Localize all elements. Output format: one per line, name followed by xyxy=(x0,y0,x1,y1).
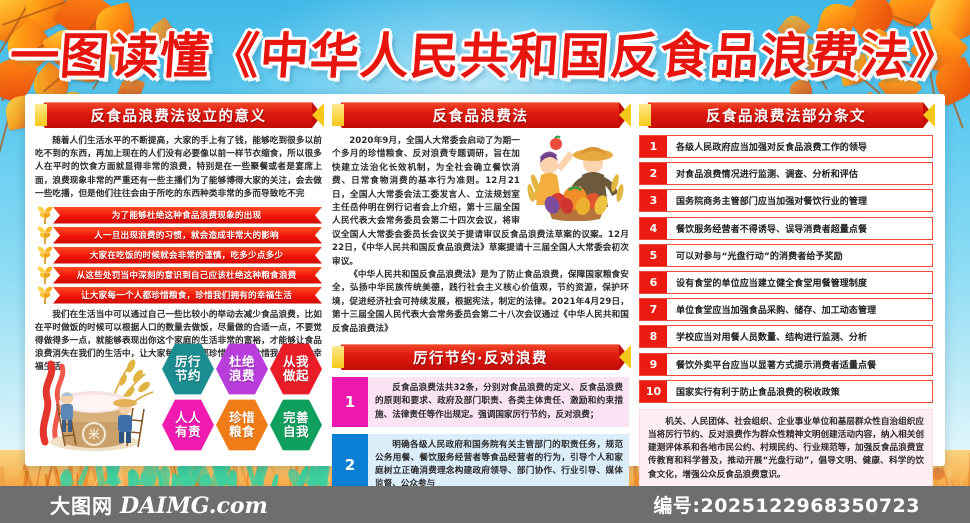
palm-blade xyxy=(172,473,177,486)
provision-text: 单位食堂应当加强食品采购、储存、加工动态管理 xyxy=(667,299,932,320)
mid-section-header: 反食品浪费法 xyxy=(332,102,629,128)
wheat-straw xyxy=(0,467,4,486)
right-section-header: 反食品浪费法部分条文 xyxy=(639,102,933,128)
provision-index: 5 xyxy=(640,245,667,266)
palm-blade xyxy=(212,470,224,486)
footer-code: 编号:2025122968350723 xyxy=(653,491,920,518)
left-bullet-text: 大家在吃饭的时候就会非常的谨慎，吃多少点多少 xyxy=(35,249,322,261)
left-section-header: 反食品浪费法设立的意义 xyxy=(35,102,322,128)
wheat-ear-icon xyxy=(35,226,55,245)
mid-item-number: 1 xyxy=(332,377,368,427)
column-left: 反食品浪费法设立的意义 随着人们生活水平的不断提高，大家的手上有了钱，能够吃到很… xyxy=(35,102,322,460)
brand-name-cn: 大图网 xyxy=(50,490,113,519)
provision-text: 餐饮外卖平台应当以显著方式提示消费者适量点餐 xyxy=(667,354,932,375)
provision-text: 餐饮服务经营者不得诱导、误导消费者超量点餐 xyxy=(667,218,932,239)
provision-index: 3 xyxy=(640,190,667,211)
left-bullet-text: 为了能够杜绝这种食品浪费现象的出现 xyxy=(35,209,322,221)
mid-header-chevron-icon xyxy=(619,103,631,127)
provision-row: 5可以对参与“光盘行动”的消费者给予奖励 xyxy=(639,244,933,267)
hexagon-line-1: 杜绝 xyxy=(229,355,255,369)
wheat-straw xyxy=(36,465,41,486)
hexagon-line-1: 人人 xyxy=(175,411,201,425)
provision-row: 4餐饮服务经营者不得诱导、误导消费者超量点餐 xyxy=(639,217,933,240)
provision-text: 国家实行有利于防止食品浪费的税收政策 xyxy=(667,381,932,402)
wheat-ear-icon xyxy=(35,246,55,265)
provision-text: 学校应当对用餐人员数量、结构进行监测、分析 xyxy=(667,326,932,347)
provision-text: 设有食堂的单位应当建立健全食堂用餐管理制度 xyxy=(667,272,932,293)
mid-section-header-2: 厉行节约·反对浪费 xyxy=(332,344,629,370)
provision-index: 1 xyxy=(640,136,667,157)
provision-text: 对食品浪费情况进行监测、调查、分析和评估 xyxy=(667,163,932,184)
hexagon-line-2: 有责 xyxy=(175,425,201,439)
provision-row: 7单位食堂应当加强食品采购、储存、加工动态管理 xyxy=(639,298,933,321)
farmers-harvest-illustration xyxy=(525,135,629,221)
content-panel: 反食品浪费法设立的意义 随着人们生活水平的不断提高，大家的手上有了钱，能够吃到很… xyxy=(25,94,945,466)
right-header-chevron-icon xyxy=(923,103,935,127)
slogan-hexagon: 珍惜粮食 xyxy=(216,398,268,452)
right-header-ribbon-tail-left xyxy=(639,104,651,126)
provision-index: 7 xyxy=(640,299,667,320)
hexagon-line-1: 从我 xyxy=(283,355,309,369)
hexagon-line-1: 完善 xyxy=(283,411,309,425)
left-bullet-item: 人一旦出现浪费的习惯，就会造成非常大的影响 xyxy=(35,227,322,244)
left-bullet-item: 为了能够杜绝这种食品浪费现象的出现 xyxy=(35,207,322,224)
provision-index: 4 xyxy=(640,218,667,239)
slogan-hexagon: 完善自我 xyxy=(270,398,322,452)
mid-header2-ribbon-tail-left xyxy=(332,346,344,368)
poster-root: 一图读懂《中华人民共和国反食品浪费法》 反食品浪费法设立的意义 随着人们生活水平… xyxy=(0,0,970,523)
poster-title-container: 一图读懂《中华人民共和国反食品浪费法》 xyxy=(0,24,970,92)
column-right: 反食品浪费法部分条文 1各级人民政府应当加强对反食品浪费工作的领导2对食品浪费情… xyxy=(639,102,933,460)
hexagon-line-2: 节约 xyxy=(175,369,201,383)
provision-row: 6设有食堂的单位应当建立健全食堂用餐管理制度 xyxy=(639,271,933,294)
rice-bag-character: 米 xyxy=(88,427,101,441)
right-header-title: 反食品浪费法部分条文 xyxy=(706,105,866,126)
hexagon-line-2: 自我 xyxy=(283,425,309,439)
mid-header-ribbon-tail-left xyxy=(332,104,344,126)
left-bullet-item: 让大家每一个人都珍惜粮食，珍惜我们拥有的幸福生活 xyxy=(35,287,322,304)
hexagon-line-2: 粮食 xyxy=(229,425,255,439)
mid-header2-chevron-icon xyxy=(619,345,631,369)
left-header-chevron-icon xyxy=(312,103,324,127)
provision-row: 8学校应当对用餐人员数量、结构进行监测、分析 xyxy=(639,325,933,348)
footer-brand: 大图网 DAIMG.com xyxy=(50,490,268,519)
left-bullet-list: 为了能够杜绝这种食品浪费现象的出现人一旦出现浪费的习惯，就会造成非常大的影响大家… xyxy=(35,207,322,304)
slogan-hexagon: 人人有责 xyxy=(162,398,214,452)
slogan-hexagon: 厉行节约 xyxy=(162,342,214,396)
wheat-ear-icon xyxy=(35,206,55,225)
mid-item-text: 反食品浪费法共32条，分别对食品浪费的定义、反食品浪费的原则和要求、政府及部门职… xyxy=(368,377,629,427)
hexagon-line-1: 厉行 xyxy=(175,355,201,369)
poster-title: 一图读懂《中华人民共和国反食品浪费法》 xyxy=(8,24,963,90)
wheat-straw xyxy=(12,478,16,486)
slogan-hexagon: 杜绝浪费 xyxy=(216,342,268,396)
wheat-ear-icon xyxy=(35,266,55,285)
hexagon-line-2: 做起 xyxy=(283,369,309,383)
left-illustration-area: 米 xyxy=(35,340,322,458)
left-bullet-text: 让大家每一个人都珍惜粮食，珍惜我们拥有的幸福生活 xyxy=(35,289,322,301)
provision-index: 9 xyxy=(640,354,667,375)
palm-blade xyxy=(200,474,212,486)
provision-row: 3国务院商务主管部门应当加强对餐饮行业的管理 xyxy=(639,189,933,212)
provision-index: 2 xyxy=(640,163,667,184)
mid-paragraph-2: 《中华人民共和国反食品浪费法》是为了防止食品浪费，保障国家粮食安全，弘扬中华民族… xyxy=(332,269,629,336)
left-header-ribbon-tail-left xyxy=(35,104,47,126)
wheat-ear-icon xyxy=(35,286,55,305)
brand-name-en: DAIMG.com xyxy=(120,493,268,519)
provision-text: 可以对参与“光盘行动”的消费者给予奖励 xyxy=(667,245,932,266)
palm-blade xyxy=(228,470,238,486)
hexagon-line-1: 珍惜 xyxy=(229,411,255,425)
mid-header-title: 反食品浪费法 xyxy=(433,105,529,126)
column-middle: 反食品浪费法 xyxy=(332,102,629,460)
left-bullet-item: 从这些处罚当中深刻的意识到自己应该杜绝这种粮食浪费 xyxy=(35,267,322,284)
provision-text: 国务院商务主管部门应当加强对餐饮行业的管理 xyxy=(667,190,932,211)
left-intro-paragraph: 随着人们生活水平的不断提高，大家的手上有了钱，能够吃到很多以前吃不到的东西，再加… xyxy=(35,135,322,201)
right-note-box: 机关、人民团体、社会组织、企业事业单位和基层群众性自治组织应当将厉行节约、反对浪… xyxy=(639,409,933,489)
provision-index: 8 xyxy=(640,326,667,347)
slogan-hexagon-grid: 厉行节约杜绝浪费从我做起人人有责珍惜粮食完善自我 xyxy=(162,342,322,456)
provision-index: 6 xyxy=(640,272,667,293)
left-bullet-text: 人一旦出现浪费的习惯，就会造成非常大的影响 xyxy=(35,229,322,241)
left-bullet-text: 从这些处罚当中深刻的意识到自己应该杜绝这种粮食浪费 xyxy=(35,269,322,281)
mid-header2-title: 厉行节约·反对浪费 xyxy=(413,347,548,368)
left-header-title: 反食品浪费法设立的意义 xyxy=(91,105,267,126)
provision-index: 10 xyxy=(640,381,667,402)
left-bullet-item: 大家在吃饭的时候就会非常的谨慎，吃多少点多少 xyxy=(35,247,322,264)
provision-row: 2对食品浪费情况进行监测、调查、分析和评估 xyxy=(639,162,933,185)
provision-row: 10国家实行有利于防止食品浪费的税收政策 xyxy=(639,380,933,403)
provision-row: 9餐饮外卖平台应当以显著方式提示消费者适量点餐 xyxy=(639,353,933,376)
mid-numbered-item: 1反食品浪费法共32条，分别对食品浪费的定义、反食品浪费的原则和要求、政府及部门… xyxy=(332,377,629,427)
footer-bar: 大图网 DAIMG.com 编号:2025122968350723 xyxy=(0,486,970,523)
hexagon-line-2: 浪费 xyxy=(229,369,255,383)
provision-row: 1各级人民政府应当加强对反食品浪费工作的领导 xyxy=(639,135,933,158)
provisions-list: 1各级人民政府应当加强对反食品浪费工作的领导2对食品浪费情况进行监测、调查、分析… xyxy=(639,135,933,403)
provision-text: 各级人民政府应当加强对反食品浪费工作的领导 xyxy=(667,136,932,157)
rice-bag-illustration: 米 xyxy=(37,346,159,458)
slogan-hexagon: 从我做起 xyxy=(270,342,322,396)
